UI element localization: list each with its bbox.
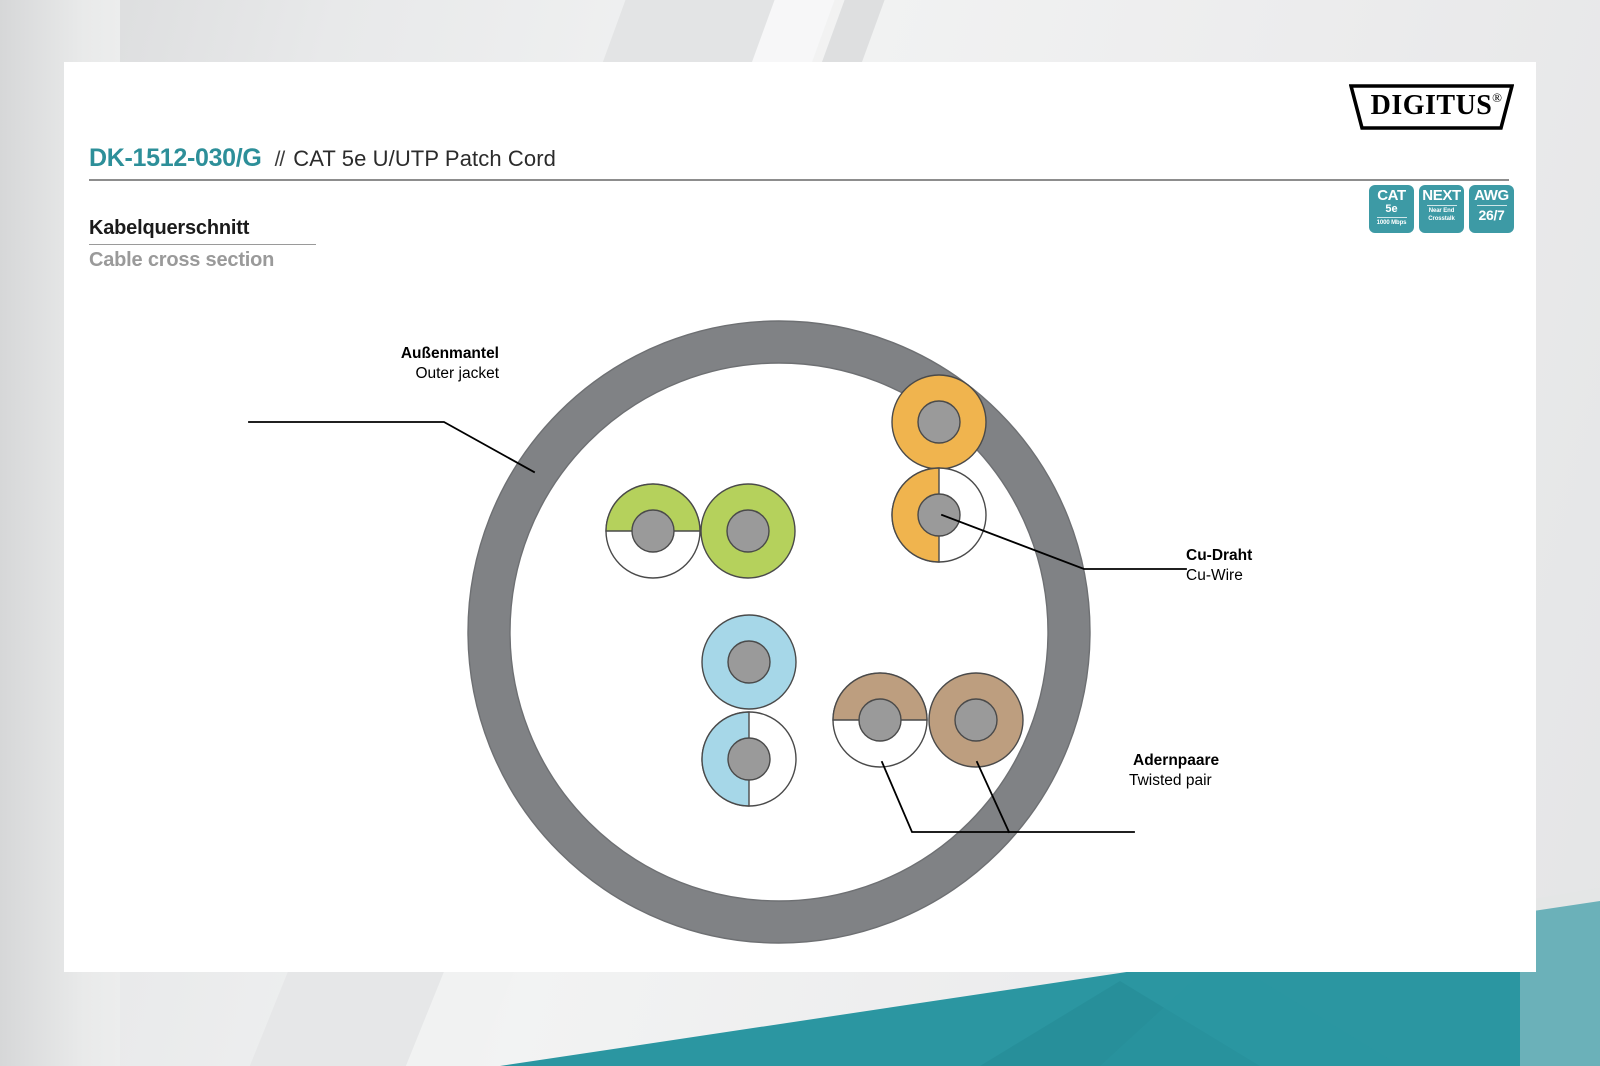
page-background: DIGITUS ® DK-1512-030/G//CAT 5e U/UTP Pa…: [0, 0, 1600, 1066]
pair-orange-wire-striped: [892, 468, 986, 562]
certification-badges: CAT 5e 1000 Mbps NEXT Near End Crosstalk…: [1369, 185, 1514, 233]
section-title-divider: [89, 244, 316, 245]
pair-blue-wire-solid: [702, 615, 796, 709]
cat-badge-main: CAT: [1377, 188, 1406, 203]
pair-brown: [833, 673, 1023, 767]
pair-orange-wire-solid: [892, 375, 986, 469]
digitus-logo: DIGITUS ®: [1349, 84, 1514, 130]
orange-striped-copper-core: [918, 494, 960, 536]
leader-outer-jacket: [249, 422, 534, 472]
article-number: DK-1512-030/G: [89, 144, 262, 172]
green-striped-copper-core: [632, 510, 674, 552]
pair-green: [606, 484, 795, 578]
logo-wordmark: DIGITUS: [1349, 84, 1514, 130]
next-badge-main: NEXT: [1422, 188, 1460, 203]
awg-badge-divider: [1477, 205, 1507, 206]
title-separator: //: [275, 148, 285, 171]
product-name: CAT 5e U/UTP Patch Cord: [293, 146, 556, 171]
title-divider: [89, 179, 1509, 181]
pair-blue-wire-striped: [702, 712, 796, 806]
green-solid-copper-core: [727, 510, 769, 552]
callout-outer-jacket: Außenmantel Outer jacket: [319, 344, 499, 384]
blue-striped-copper-core: [728, 738, 770, 780]
awg-badge: AWG 26/7: [1469, 185, 1514, 233]
cat-badge: CAT 5e 1000 Mbps: [1369, 185, 1414, 233]
pair-brown-wire-solid: [929, 673, 1023, 767]
pair-green-wire-striped: [606, 484, 700, 578]
cross-section-svg: [64, 262, 1536, 962]
pair-brown-wire-striped: [833, 673, 927, 767]
pair-blue: [702, 615, 796, 806]
brown-solid-copper-core: [955, 699, 997, 741]
callout-cu-wire-en: Cu-Wire: [1186, 566, 1386, 586]
next-badge: NEXT Near End Crosstalk: [1419, 185, 1464, 233]
orange-solid-copper-core: [918, 401, 960, 443]
callout-twisted-pair-de: Adernpaare: [1129, 751, 1349, 771]
cable-cross-section-diagram: Außenmantel Outer jacket Cu-Draht Cu-Wir…: [64, 262, 1536, 962]
callout-outer-jacket-de: Außenmantel: [319, 344, 499, 364]
registered-trademark-icon: ®: [1492, 90, 1502, 106]
awg-badge-sub: 26/7: [1478, 208, 1504, 223]
section-title-de: Kabelquerschnitt: [89, 217, 249, 240]
callout-twisted-pair: Adernpaare Twisted pair: [1129, 751, 1349, 791]
brown-striped-copper-core: [859, 699, 901, 741]
cat-badge-divider: [1377, 217, 1407, 218]
next-badge-divider: [1427, 205, 1457, 206]
product-title-row: DK-1512-030/G//CAT 5e U/UTP Patch Cord: [89, 144, 1509, 173]
awg-badge-main: AWG: [1474, 188, 1509, 203]
pair-orange: [892, 375, 986, 562]
cat-badge-sub: 5e: [1385, 204, 1397, 215]
next-badge-fine-2: Crosstalk: [1428, 216, 1454, 224]
callout-twisted-pair-en: Twisted pair: [1129, 771, 1349, 791]
callout-outer-jacket-en: Outer jacket: [319, 364, 499, 384]
callout-cu-wire: Cu-Draht Cu-Wire: [1186, 546, 1386, 586]
callout-cu-wire-de: Cu-Draht: [1186, 546, 1386, 566]
content-sheet: DIGITUS ® DK-1512-030/G//CAT 5e U/UTP Pa…: [64, 62, 1536, 972]
pair-green-wire-solid: [701, 484, 795, 578]
blue-solid-copper-core: [728, 641, 770, 683]
cat-badge-fine: 1000 Mbps: [1377, 220, 1407, 228]
next-badge-fine-1: Near End: [1429, 208, 1455, 216]
